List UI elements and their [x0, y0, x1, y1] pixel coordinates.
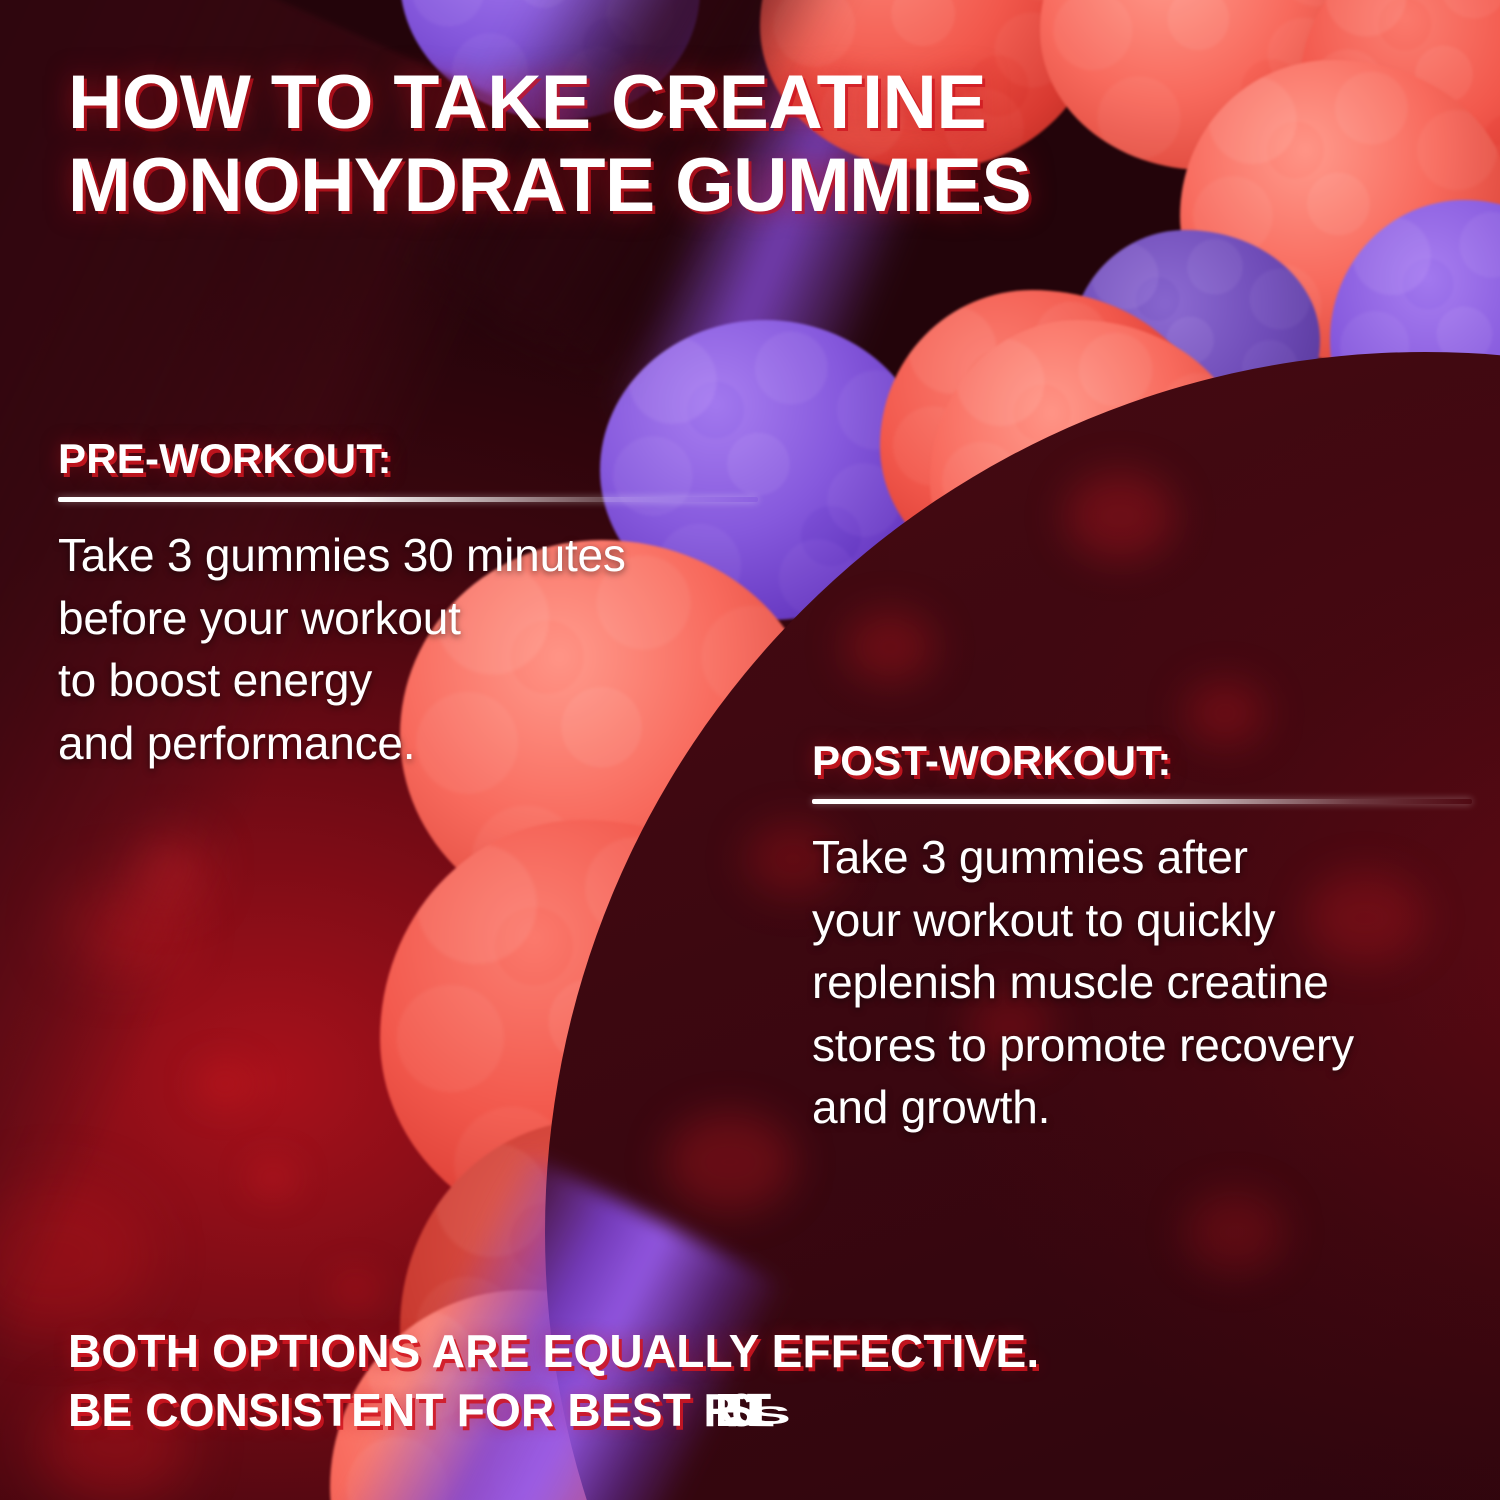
section-kicker: PRE-WORKOUT:: [58, 438, 758, 480]
page-title: HOW TO TAKE CREATINEMONOHYDRATE GUMMIES: [68, 62, 1355, 228]
section-underline: [812, 799, 1472, 804]
body-line: and performance.: [58, 712, 758, 775]
section-underline: [58, 497, 758, 502]
section-post-workout: POST-WORKOUT: Take 3 gummies after your …: [812, 740, 1472, 1139]
body-line: to boost energy: [58, 649, 758, 712]
poster: HOW TO TAKE CREATINEMONOHYDRATE GUMMIES …: [0, 0, 1500, 1500]
body-line: and growth.: [812, 1076, 1472, 1139]
body-line: stores to promote recovery: [812, 1014, 1472, 1077]
section-body: Take 3 gummies after your workout to qui…: [812, 826, 1472, 1139]
body-line: Take 3 gummies after: [812, 826, 1472, 889]
section-body: Take 3 gummies 30 minutes before your wo…: [58, 524, 758, 774]
footer-line-2: BE CONSISTENT FOR BEST RESULTS: [68, 1381, 1428, 1440]
body-line: before your workout: [58, 587, 758, 650]
footer-line-1: BOTH OPTIONS ARE EQUALLY EFFECTIVE.: [68, 1322, 1428, 1381]
section-pre-workout: PRE-WORKOUT: Take 3 gummies 30 minutes b…: [58, 438, 758, 774]
body-line: replenish muscle creatine: [812, 951, 1472, 1014]
footer-line-2-prefix: BE CONSISTENT FOR BEST: [68, 1384, 704, 1436]
footer-tagline: BOTH OPTIONS ARE EQUALLY EFFECTIVE. BE C…: [68, 1322, 1428, 1440]
footer-glitch-word: RESULTS: [703, 1381, 765, 1440]
body-line: your workout to quickly: [812, 889, 1472, 952]
section-kicker: POST-WORKOUT:: [812, 740, 1472, 782]
body-line: Take 3 gummies 30 minutes: [58, 524, 758, 587]
